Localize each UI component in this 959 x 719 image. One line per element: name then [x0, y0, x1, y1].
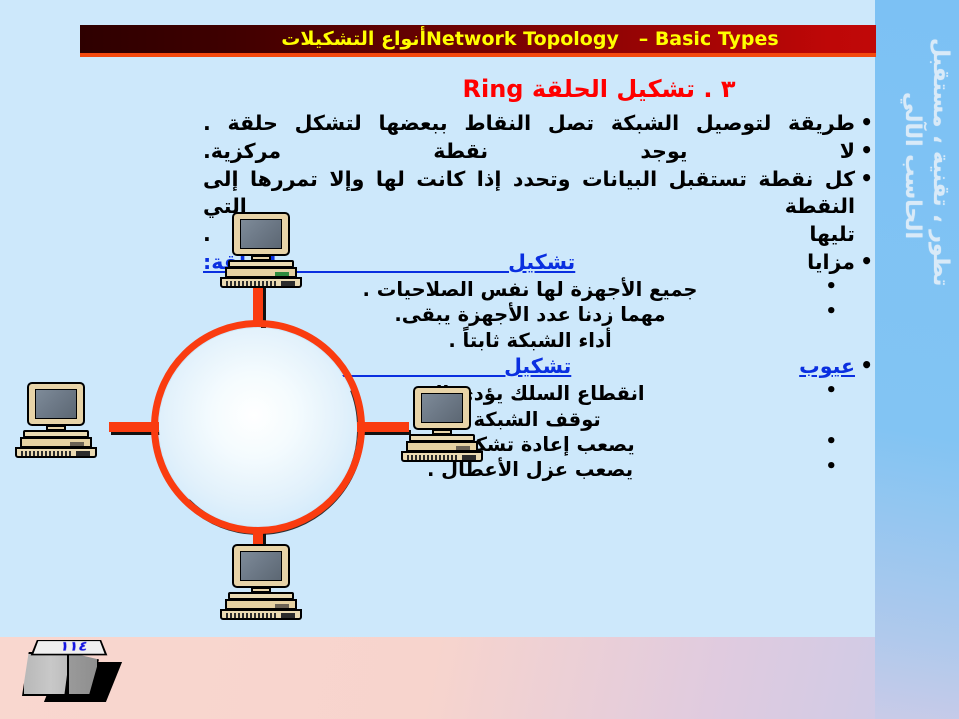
monitor-screen: [240, 219, 282, 249]
computer-icon-left: [15, 382, 99, 458]
ring-spoke-top: [253, 284, 263, 326]
slide-footer-band: [0, 637, 959, 719]
monitor-bezel: [232, 544, 290, 588]
list-item: طريقة لتوصيل الشبكة تصل النقاط ببعضها لت…: [203, 110, 875, 137]
monitor-screen: [421, 393, 463, 423]
page-number-key-icon: ١١٤: [18, 634, 128, 704]
rail-watermark-line1: تطور ، تقنية ، مستقبل: [928, 38, 953, 286]
heading-latin: Ring: [463, 75, 524, 103]
keyboard-icon: [220, 609, 302, 620]
disadvantages-label-black: عيوب: [799, 354, 855, 378]
bullet-each-node-text: كل نقطة تستقبل البيانات وتحدد إذا كانت ل…: [203, 167, 855, 218]
bullet-definition-text: طريقة لتوصيل الشبكة تصل النقاط ببعضها لت…: [203, 111, 855, 135]
monitor-bezel: [27, 382, 85, 426]
monitor-screen: [35, 389, 77, 419]
rail-watermark-line2: الحاسب الآلي: [900, 92, 925, 239]
keyboard-icon: [15, 447, 97, 458]
page-title: ٣ . تشكيل الحلقة Ring: [203, 76, 875, 104]
title-banner: Network Topology – Basic Typesأنواع التش…: [80, 25, 876, 57]
ring-spoke-left: [109, 422, 159, 432]
title-arabic: أنواع التشكيلات: [281, 28, 426, 50]
heading-arabic: تشكيل الحلقة: [532, 75, 695, 103]
computer-icon-bottom: [220, 544, 304, 620]
keyboard-icon: [401, 451, 483, 462]
key-front-face: [22, 652, 70, 696]
title-latin-right: Basic Types: [655, 28, 779, 50]
ring-circle: [151, 320, 365, 534]
side-rail: تطور ، تقنية ، مستقبل الحاسب الآلي: [875, 0, 959, 719]
keyboard-icon: [220, 277, 302, 288]
title-separator: –: [639, 28, 649, 50]
monitor-bezel: [232, 212, 290, 256]
heading-number: ٣ .: [703, 75, 735, 103]
computer-icon-right: [401, 386, 485, 462]
slide-canvas: تطور ، تقنية ، مستقبل الحاسب الآلي Netwo…: [0, 0, 959, 719]
title-text: Network Topology – Basic Typesأنواع التش…: [281, 28, 784, 50]
bullet-no-central-point-text: لا يوجد نقطة مركزية.: [203, 139, 855, 163]
ring-topology-diagram: [55, 240, 475, 640]
list-item: لا يوجد نقطة مركزية.: [203, 138, 875, 165]
title-latin-left: Network Topology: [426, 28, 619, 50]
monitor-screen: [240, 551, 282, 581]
computer-icon-top: [220, 212, 304, 288]
page-number: ١١٤: [42, 638, 105, 654]
monitor-bezel: [413, 386, 471, 430]
advantages-label-black: مزايا: [807, 250, 855, 274]
